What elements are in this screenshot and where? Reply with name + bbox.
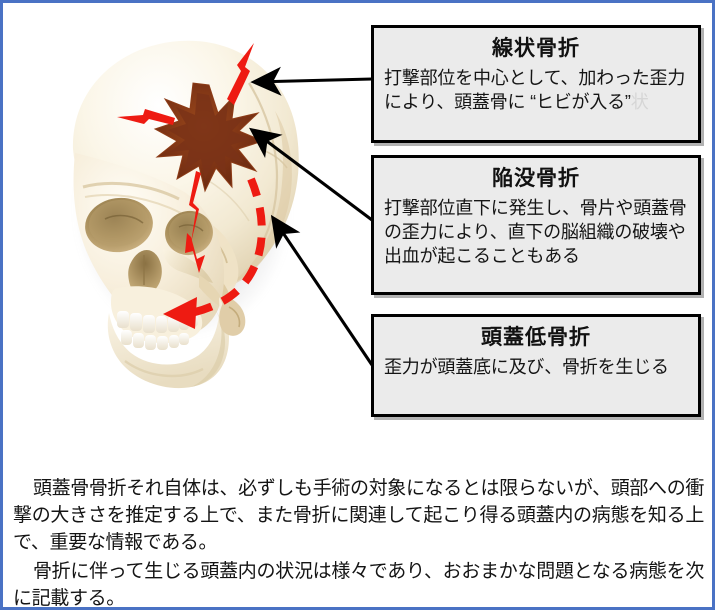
callout-depressed-fracture: 陥没骨折 打撃部位直下に発生し、骨片や頭蓋骨 の歪力により、直下の脳組織の破壊や… [371,155,701,295]
callout-linear-title: 線状骨折 [384,36,688,62]
callout-basilar-fracture: 頭蓋低骨折 歪力が頭蓋底に及び、骨折を生じる [371,314,701,417]
callout-linear-clipped-text: 状 [631,92,649,112]
callout-depressed-body-line-3: 出血が起こることもある [384,244,688,268]
skull-mastoid-process [219,297,245,336]
callout-depressed-body-line-2: の歪力により、直下の脳組織の破壊や [384,220,688,244]
callout-linear-body-line-2-text: により、頭蓋骨に “ヒビが入る” [384,92,631,112]
callout-basilar-body: 歪力が頭蓋底に及び、骨折を生じる [384,355,688,379]
body-text-region: 頭蓋骨骨折それ自体は、必ずしも手術の対象になるとは限らないが、頭部への衝撃の大き… [3,458,715,608]
callout-linear-body: 打撃部位を中心として、加わった歪力 により、頭蓋骨に “ヒビが入る”状 [384,66,688,114]
page-root: 線状骨折 打撃部位を中心として、加わった歪力 により、頭蓋骨に “ヒビが入る”状… [0,0,715,610]
skull-illustration [13,21,333,441]
callout-depressed-body-line-1: 打撃部位直下に発生し、骨片や頭蓋骨 [384,196,688,220]
callout-depressed-body: 打撃部位直下に発生し、骨片や頭蓋骨 の歪力により、直下の脳組織の破壊や 出血が起… [384,196,688,268]
callout-basilar-body-line-1: 歪力が頭蓋底に及び、骨折を生じる [384,355,688,379]
paragraph-1: 頭蓋骨骨折それ自体は、必ずしも手術の対象になるとは限らないが、頭部への衝撃の大き… [13,476,704,557]
paragraph-2: 骨折に伴って生じる頭蓋内の状況は様々であり、おおまかな問題となる病態を次に記載す… [13,559,704,610]
callout-depressed-title: 陥没骨折 [384,166,688,192]
callout-basilar-title: 頭蓋低骨折 [384,325,688,351]
callout-linear-body-line-1: 打撃部位を中心として、加わった歪力 [384,66,688,90]
figure-region: 線状骨折 打撃部位を中心として、加わった歪力 により、頭蓋骨に “ヒビが入る”状… [3,3,715,458]
callout-linear-fracture: 線状骨折 打撃部位を中心として、加わった歪力 により、頭蓋骨に “ヒビが入る”状 [371,25,701,143]
callout-linear-body-line-2: により、頭蓋骨に “ヒビが入る”状 [384,90,688,114]
